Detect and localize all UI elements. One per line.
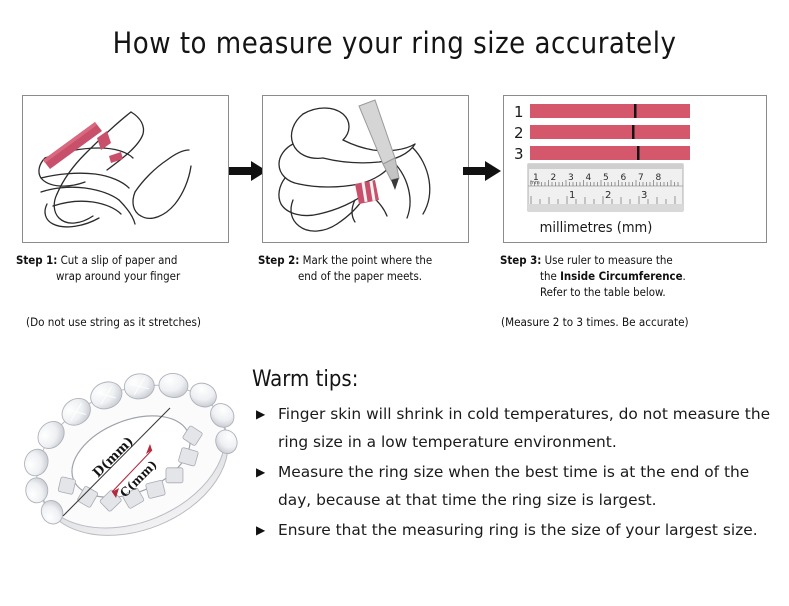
wrapped-strip-shape <box>97 131 111 150</box>
step-2-caption: Step 2: Mark the point where the end of … <box>258 252 490 284</box>
ring-photo-illustration: D(mm) C(mm) <box>20 352 248 577</box>
warm-tip-text: Ensure that the measuring ring is the si… <box>278 521 758 539</box>
measured-strip-1 <box>530 104 690 118</box>
warm-tip-text: Finger skin will shrink in cold temperat… <box>278 405 770 451</box>
step-1-label: Step 1: <box>16 253 57 267</box>
step-2-caption-line1: Mark the point where the <box>303 253 433 267</box>
warm-tips-list: ▶ Finger skin will shrink in cold temper… <box>252 400 772 546</box>
svg-text:4: 4 <box>586 173 592 183</box>
step-3-line2-suffix: . <box>683 269 686 283</box>
warm-tip-text: Measure the ring size when the best time… <box>278 463 749 509</box>
strip-label-2: 2 <box>514 124 524 142</box>
svg-text:3: 3 <box>641 190 647 201</box>
step-3-caption-line2: the Inside Circumference. <box>540 268 770 284</box>
paper-strip-shape <box>355 180 379 204</box>
arrow-step2-to-step3-icon <box>463 160 503 182</box>
svg-text:2: 2 <box>605 190 611 201</box>
ring-size-guide-page: How to measure your ring size accurately <box>0 0 789 606</box>
step-3-caption-line3: Refer to the table below. <box>540 284 770 300</box>
step-2-illustration-box <box>262 95 469 243</box>
svg-text:6: 6 <box>621 173 627 183</box>
bullet-triangle-icon: ▶ <box>256 516 265 544</box>
warm-tips-heading: Warm tips: <box>252 367 358 392</box>
step-1-note: (Do not use string as it stretches) <box>26 315 201 329</box>
strip-2-mark <box>632 125 635 139</box>
strip-3-mark <box>637 146 640 160</box>
page-title: How to measure your ring size accurately <box>0 26 789 60</box>
step-3-caption: Step 3: Use ruler to measure the the Ins… <box>500 252 770 300</box>
list-item: ▶ Finger skin will shrink in cold temper… <box>252 400 772 456</box>
step-3-illustration-box: 1 2 3 <box>503 95 767 243</box>
measured-strip-2 <box>530 125 690 139</box>
ruler-mm-corner-label: mm <box>530 180 540 186</box>
step-2-caption-line2: end of the paper meets. <box>298 268 490 284</box>
step-1-illustration-box <box>22 95 229 243</box>
svg-text:2: 2 <box>551 173 557 183</box>
list-item: ▶ Measure the ring size when the best ti… <box>252 458 772 514</box>
strip-label-3: 3 <box>514 145 524 163</box>
step-1-caption-line1: Cut a slip of paper and <box>61 253 178 267</box>
svg-text:7: 7 <box>638 173 644 183</box>
hand-with-paper-strip-illustration <box>23 96 228 242</box>
step-1-caption: Step 1: Cut a slip of paper and wrap aro… <box>16 252 248 284</box>
strip-1-mark <box>634 104 637 118</box>
step-3-label: Step 3: <box>500 253 541 267</box>
strip-end-shape <box>109 152 123 163</box>
ring-diagram: D(mm) C(mm) <box>20 352 248 577</box>
step-3-line2-prefix: the <box>540 269 560 283</box>
strip-label-1: 1 <box>514 103 524 121</box>
step-3-inside-circumference: Inside Circumference <box>560 269 682 283</box>
step-3-note: (Measure 2 to 3 times. Be accurate) <box>501 315 689 329</box>
step-3-caption-line1: Use ruler to measure the <box>545 253 673 267</box>
hand-marking-paper-with-pen-illustration <box>263 96 468 242</box>
bullet-triangle-icon: ▶ <box>256 400 265 428</box>
ruler-unit-caption: millimetres (mm) <box>540 220 653 236</box>
svg-text:1: 1 <box>569 190 575 201</box>
measured-strip-3 <box>530 146 690 160</box>
svg-text:8: 8 <box>656 173 662 183</box>
ruler-shape: 123 456 78 mm 123 <box>528 164 683 211</box>
svg-text:5: 5 <box>603 173 609 183</box>
ruler-with-measured-strips-illustration: 1 2 3 <box>504 96 766 242</box>
list-item: ▶ Ensure that the measuring ring is the … <box>252 516 772 544</box>
bullet-triangle-icon: ▶ <box>256 458 265 486</box>
step-2-label: Step 2: <box>258 253 299 267</box>
step-1-caption-line2: wrap around your finger <box>56 268 248 284</box>
svg-text:3: 3 <box>568 173 574 183</box>
